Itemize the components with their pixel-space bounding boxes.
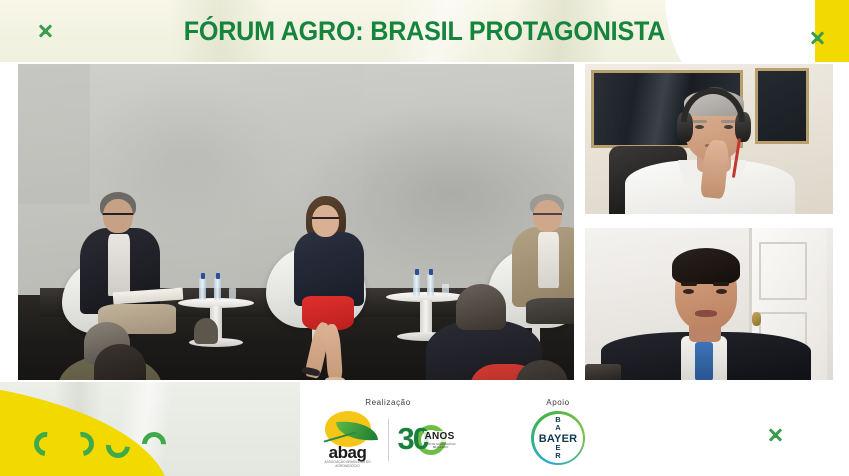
panelist-right bbox=[500, 194, 574, 334]
blazer bbox=[294, 232, 364, 306]
legs bbox=[526, 298, 574, 324]
face bbox=[103, 199, 133, 233]
mouth bbox=[695, 310, 717, 317]
leg bbox=[324, 324, 343, 380]
drinking-glass bbox=[442, 284, 449, 296]
bayer-logo: BA BAYER ER bbox=[531, 411, 585, 465]
glasses-icon bbox=[533, 213, 562, 216]
main-stage-feed[interactable] bbox=[18, 64, 574, 380]
realizacao-logo-row: abag ASSOCIAÇÃO BRASILEIRA DO AGRONEGÓCI… bbox=[288, 411, 488, 469]
table-stem bbox=[420, 300, 433, 336]
eyebrow bbox=[713, 282, 729, 286]
hair bbox=[672, 248, 740, 284]
abag-logo: abag ASSOCIAÇÃO BRASILEIRA DO AGRONEGÓCI… bbox=[317, 411, 379, 469]
page-title: FÓRUM AGRO: BRASIL PROTAGONISTA bbox=[30, 0, 820, 62]
audience-member bbox=[456, 284, 506, 330]
door-handle bbox=[752, 312, 761, 326]
drinking-glass bbox=[229, 288, 236, 300]
logo-divider bbox=[388, 419, 389, 461]
bayer-vertical-bottom: ER bbox=[531, 444, 585, 460]
realizacao-credit: Realização abag ASSOCIAÇÃO BRASILEIRA DO… bbox=[288, 398, 488, 469]
desk-object bbox=[585, 364, 621, 380]
anos-subtext: ANO DE AGRONEGÓCIO BRASILEIRO bbox=[424, 443, 458, 450]
apoio-credit: Apoio BA BAYER ER bbox=[498, 398, 618, 465]
x-cross-icon bbox=[767, 427, 783, 443]
glasses-icon bbox=[103, 213, 133, 216]
anos-word: ANOS bbox=[424, 431, 456, 442]
eyebrow bbox=[681, 282, 697, 286]
abag-tagline: ASSOCIAÇÃO BRASILEIRA DO AGRONEGÓCIO bbox=[317, 460, 379, 468]
dress-shirt bbox=[108, 234, 130, 296]
remote-participant-1[interactable] bbox=[585, 64, 833, 214]
eye bbox=[724, 125, 733, 129]
dress-shirt bbox=[538, 232, 559, 288]
door-panel-inset bbox=[759, 242, 807, 300]
30-anos-logo: 30 ANOS ANO DE AGRONEGÓCIO BRASILEIRO bbox=[398, 420, 460, 460]
water-bottle bbox=[413, 274, 420, 296]
eye bbox=[716, 289, 727, 294]
bayer-vertical-top: BA bbox=[531, 416, 585, 432]
water-bottle bbox=[427, 274, 434, 296]
eye bbox=[695, 125, 704, 129]
framed-artwork bbox=[755, 68, 809, 144]
x-cross-icon bbox=[37, 23, 53, 39]
remote-participant-2[interactable] bbox=[585, 228, 833, 380]
realizacao-label: Realização bbox=[288, 398, 488, 407]
apoio-label: Apoio bbox=[498, 398, 618, 407]
water-bottle bbox=[199, 278, 206, 300]
shoe bbox=[325, 377, 345, 380]
audience-member bbox=[194, 318, 218, 344]
blue-tie bbox=[695, 342, 713, 380]
water-bottle bbox=[214, 278, 221, 300]
x-cross-icon bbox=[809, 30, 825, 46]
broadcast-stage: FÓRUM AGRO: BRASIL PROTAGONISTA bbox=[0, 0, 849, 476]
face bbox=[533, 200, 562, 232]
apoio-logo-row: BA BAYER ER bbox=[498, 411, 618, 465]
face bbox=[312, 205, 339, 237]
eye bbox=[683, 289, 694, 294]
wall-panel-left bbox=[18, 64, 90, 204]
panelist-center bbox=[280, 196, 380, 374]
glasses-icon bbox=[312, 217, 339, 220]
panelist-left bbox=[70, 192, 180, 342]
